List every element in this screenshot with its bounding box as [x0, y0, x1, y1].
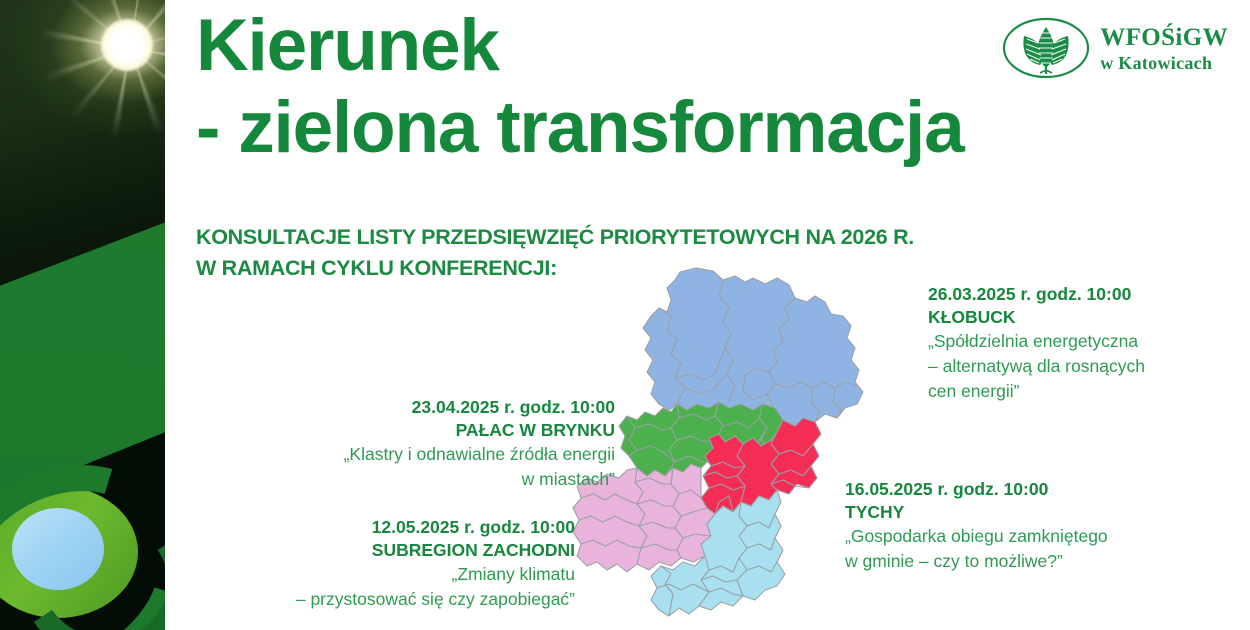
event-date: 23.04.2025 r. godz. 10:00 [290, 396, 615, 419]
event-place: KŁOBUCK [928, 306, 1228, 329]
event-topic-line: – przystosować się czy zapobiegać” [245, 587, 575, 612]
page-title: Kierunek - zielona transformacja [196, 8, 1056, 166]
event-topic-line: w miastach” [290, 467, 615, 492]
subtitle-line-1: KONSULTACJE LISTY PRZEDSIĘWZIĘĆ PRIORYTE… [196, 222, 1036, 253]
sun-rays-icon [28, 0, 165, 150]
wfosigw-logo: WFOŚiGW w Katowicach [1002, 16, 1228, 80]
event-date: 12.05.2025 r. godz. 10:00 [245, 516, 575, 539]
event-place: PAŁAC W BRYNKU [290, 419, 615, 442]
event-topic-line: w gminie – czy to możliwe?” [845, 549, 1165, 574]
leaf-in-ellipse-icon [1002, 16, 1090, 80]
event-place: SUBREGION ZACHODNI [245, 539, 575, 562]
event-topic-line: cen energii” [928, 379, 1228, 404]
event-date: 26.03.2025 r. godz. 10:00 [928, 283, 1228, 306]
title-line-2: - zielona transformacja [196, 90, 1056, 166]
event-klobuck: 26.03.2025 r. godz. 10:00 KŁOBUCK „Spółd… [928, 283, 1228, 404]
event-tychy: 16.05.2025 r. godz. 10:00 TYCHY „Gospoda… [845, 478, 1165, 574]
event-topic-line: „Klastry i odnawialne źródła energii [290, 442, 615, 467]
event-topic-line: – alternatywą dla rosnących [928, 354, 1228, 379]
poster-root: Kierunek - zielona transformacja KONSULT… [0, 0, 1250, 630]
event-subregion-zachodni: 12.05.2025 r. godz. 10:00 SUBREGION ZACH… [245, 516, 575, 612]
logo-text: WFOŚiGW w Katowicach [1100, 25, 1228, 72]
event-topic-line: „Spółdzielnia energetyczna [928, 329, 1228, 354]
title-line-1: Kierunek [196, 8, 1056, 84]
logo-line-1: WFOŚiGW [1100, 25, 1228, 50]
event-place: TYCHY [845, 501, 1165, 524]
event-brynek: 23.04.2025 r. godz. 10:00 PAŁAC W BRYNKU… [290, 396, 615, 492]
event-topic-line: „Gospodarka obiegu zamkniętego [845, 524, 1165, 549]
sun-icon [101, 19, 153, 71]
event-topic-line: „Zmiany klimatu [245, 562, 575, 587]
logo-line-2: w Katowicach [1100, 54, 1228, 72]
event-date: 16.05.2025 r. godz. 10:00 [845, 478, 1165, 501]
decorative-side-panel [0, 0, 165, 630]
